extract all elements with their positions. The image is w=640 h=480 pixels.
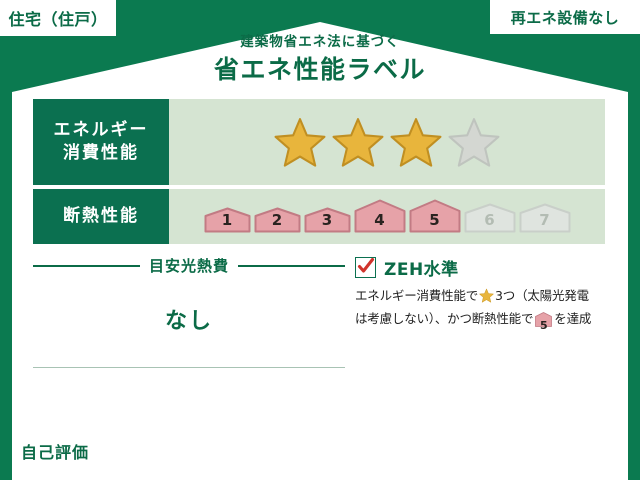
label-id: 6490475a-359e-43b9 — [520, 460, 627, 471]
energy-cost-heading-text: 目安光熱費 — [149, 255, 229, 276]
energy-performance-label-line2: 消費性能 — [63, 142, 139, 165]
grade-chip-number: 1 — [204, 213, 251, 228]
zeh-description: エネルギー消費性能で 3つ（太陽光発電 は考慮しない）、かつ断熱性能で 5 を達… — [355, 286, 605, 334]
star-icon — [479, 288, 494, 309]
heading-rule-right — [238, 265, 345, 267]
grade-chip-4: 4 — [354, 199, 406, 233]
energy-performance-label: エネルギー 消費性能 — [33, 99, 169, 185]
grade-chip-list: 1234567 — [204, 199, 571, 235]
renewable-energy-badge: 再エネ設備なし — [490, 0, 640, 34]
building-type-label: 住宅（住戸） — [8, 6, 107, 30]
grade-chip-6: 6 — [464, 203, 516, 233]
label-content: エネルギー 消費性能 断熱性能 1234567 目安光熱費 なし — [33, 99, 605, 368]
star-icon-filled — [332, 117, 384, 167]
zeh-title: ZEH水準 — [384, 255, 459, 280]
grade-chip-3: 3 — [304, 207, 351, 233]
section-divider — [33, 367, 345, 368]
grade-chip-number: 5 — [409, 213, 461, 228]
star-icon-empty — [448, 117, 500, 167]
property-address: ハートフルタウン東区月出7丁目（熊本）A号棟 — [103, 443, 412, 464]
building-type-badge: 住宅（住戸） — [0, 0, 116, 36]
zeh-desc-part1: エネルギー消費性能で — [355, 288, 478, 303]
grade-chip-number: 3 — [304, 213, 351, 228]
evaluation-date: 評価日 2025年2月3日 — [480, 436, 627, 452]
energy-performance-row: エネルギー 消費性能 — [33, 99, 605, 185]
insulation-performance-row: 断熱性能 1234567 — [33, 189, 605, 244]
grade-chip-1: 1 — [204, 207, 251, 233]
grade-chip-5: 5 — [409, 199, 461, 233]
evaluation-date-label: 評価日 — [480, 436, 522, 452]
energy-cost-heading: 目安光熱費 — [33, 255, 345, 276]
grade-chip-2: 2 — [254, 207, 301, 233]
zeh-heading: ZEH水準 — [355, 255, 605, 280]
grade-chip-number: 6 — [464, 213, 516, 228]
zeh-grade-chip: 5 — [535, 312, 552, 333]
star-icon-filled — [390, 117, 442, 167]
label-title-block: 建築物省エネ法に基づく 省エネ性能ラベル — [0, 36, 640, 82]
zeh-checkbox[interactable] — [355, 257, 376, 278]
insulation-performance-label-text: 断熱性能 — [63, 205, 139, 228]
zeh-section: ZEH水準 エネルギー消費性能で 3つ（太陽光発電 は考慮しない）、かつ断熱性能… — [345, 255, 605, 368]
insulation-performance-label: 断熱性能 — [33, 189, 169, 244]
star-icon-filled — [274, 117, 326, 167]
evaluation-type-badge: 自己評価 — [14, 441, 96, 465]
renewable-energy-label: 再エネ設備なし — [511, 7, 620, 28]
label-footer: 自己評価 ハートフルタウン東区月出7丁目（熊本）A号棟 評価日 2025年2月3… — [0, 426, 640, 480]
zeh-grade-chip-number: 5 — [535, 320, 552, 331]
energy-cost-value: なし — [33, 303, 345, 335]
energy-performance-label-line1: エネルギー — [54, 119, 149, 142]
zeh-desc-line2-part1: は考慮しない）、かつ断熱性能で — [355, 311, 533, 326]
title-subtitle: 建築物省エネ法に基づく — [0, 36, 640, 50]
heading-rule-left — [33, 265, 140, 267]
footer-meta: 評価日 2025年2月3日 6490475a-359e-43b9 — [480, 433, 627, 474]
grade-chip-7: 7 — [519, 203, 571, 233]
lower-section: 目安光熱費 なし ZEH水準 エネルギー消費性能で — [33, 255, 605, 368]
energy-saving-performance-label: 住宅（住戸） 再エネ設備なし 建築物省エネ法に基づく 省エネ性能ラベル エネルギ… — [0, 0, 640, 480]
grade-chip-number: 4 — [354, 213, 406, 228]
zeh-desc-part2: 3つ（太陽光発電 — [495, 288, 589, 303]
insulation-grade-scale: 1234567 — [169, 189, 605, 244]
title-main: 省エネ性能ラベル — [0, 57, 640, 82]
energy-cost-section: 目安光熱費 なし — [33, 255, 345, 368]
star-rating — [169, 99, 605, 185]
grade-chip-number: 7 — [519, 213, 571, 228]
check-icon — [355, 255, 377, 277]
zeh-desc-part3: を達成 — [554, 311, 591, 326]
evaluation-date-value: 2025年2月3日 — [527, 436, 627, 452]
grade-chip-number: 2 — [254, 213, 301, 228]
